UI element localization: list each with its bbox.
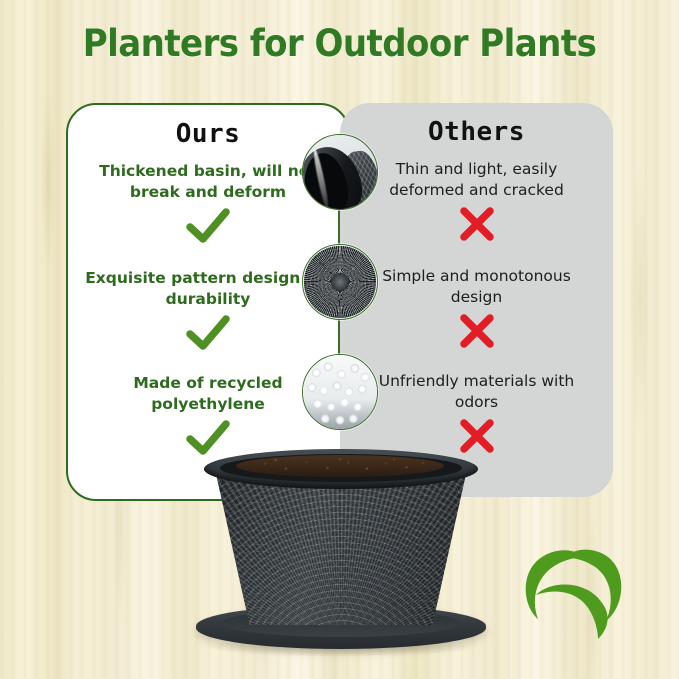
check-icon — [68, 209, 348, 243]
pot-texture-overlay — [214, 465, 468, 625]
others-feature-text-3: Unfriendly materials with odors — [340, 371, 613, 413]
polyethylene-pellets-image — [303, 355, 377, 429]
spiral-pattern-image — [303, 245, 377, 319]
others-feature-row-1: Thin and light, easily deformed and crac… — [340, 159, 613, 241]
others-feature-row-2: Simple and monotonous design — [340, 266, 613, 348]
recycle-leaves-icon — [512, 533, 638, 645]
others-feature-text-1: Thin and light, easily deformed and crac… — [340, 159, 613, 201]
check-icon — [68, 316, 348, 350]
pot-rim-closeup-image — [303, 135, 377, 209]
panel-others-heading: Others — [340, 117, 613, 147]
detail-circle-pot-rim — [302, 134, 378, 210]
circle-connector-line — [338, 205, 340, 247]
panel-others: Others Thin and light, easily deformed a… — [340, 103, 613, 497]
circle-connector-line — [338, 315, 340, 357]
cross-icon — [340, 314, 613, 348]
page-title: Planters for Outdoor Plants — [27, 22, 652, 65]
others-feature-text-2: Simple and monotonous design — [340, 266, 613, 308]
product-comparison-infographic: Planters for Outdoor Plants Ours Thicken… — [0, 0, 679, 679]
detail-circle-spiral-texture — [302, 244, 378, 320]
detail-circle-plastic-pellets — [302, 354, 378, 430]
cross-icon — [340, 207, 613, 241]
others-feature-row-3: Unfriendly materials with odors — [340, 371, 613, 453]
pot-soil — [236, 455, 444, 477]
planter-product-image — [196, 447, 486, 662]
